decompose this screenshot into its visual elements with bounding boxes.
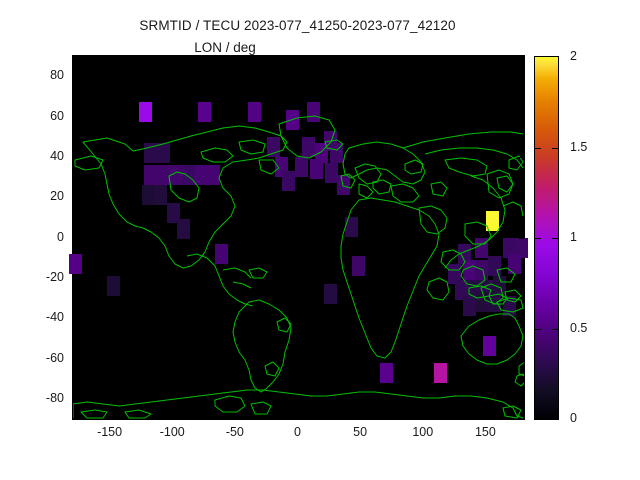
colorbar-tick-mark	[552, 238, 558, 239]
y-axis-tick-mark	[519, 238, 524, 239]
colorbar-tick-mark	[535, 148, 541, 149]
figure: SRMTID / TECU 2023-077_41250-2023-077_42…	[0, 0, 640, 480]
coastline-layer	[73, 56, 524, 419]
colorbar-tick-mark	[552, 148, 558, 149]
colorbar-tick-mark	[552, 329, 558, 330]
x-axis-tick-mark	[424, 414, 425, 419]
x-axis-tick-mark	[299, 414, 300, 419]
y-axis-tick-mark	[73, 117, 78, 118]
x-axis-tick-mark	[424, 56, 425, 61]
y-axis-tick-mark	[519, 117, 524, 118]
y-axis-tick-label: 20	[4, 189, 64, 203]
y-axis-tick-label: 40	[4, 149, 64, 163]
y-axis-tick-label: -80	[4, 391, 64, 405]
y-axis-tick-mark	[73, 318, 78, 319]
x-axis-tick-mark	[486, 56, 487, 61]
x-axis-tick-mark	[361, 414, 362, 419]
x-axis-tick-label: 50	[330, 425, 390, 439]
y-axis-tick-mark	[519, 157, 524, 158]
x-axis-tick-label: -50	[205, 425, 265, 439]
y-axis-tick-mark	[519, 197, 524, 198]
x-axis-tick-label: -100	[142, 425, 202, 439]
colorbar-tick-label: 2	[570, 49, 577, 63]
colorbar-tick-label: 1	[570, 230, 577, 244]
x-axis-tick-mark	[173, 414, 174, 419]
x-axis-tick-label: 100	[393, 425, 453, 439]
colorbar[interactable]	[534, 56, 559, 420]
y-axis-tick-label: 0	[4, 230, 64, 244]
colorbar-tick-mark	[535, 238, 541, 239]
y-axis-tick-mark	[73, 359, 78, 360]
y-axis-tick-mark	[73, 157, 78, 158]
x-axis-tick-mark	[236, 414, 237, 419]
y-axis-tick-mark	[73, 197, 78, 198]
y-axis-tick-mark	[519, 76, 524, 77]
y-axis-tick-mark	[519, 359, 524, 360]
colorbar-tick-label: 0	[570, 411, 577, 425]
y-axis-tick-mark	[519, 399, 524, 400]
x-axis-label: LON / deg	[194, 40, 256, 55]
x-axis-tick-mark	[236, 56, 237, 61]
y-axis-tick-mark	[73, 238, 78, 239]
x-axis-tick-mark	[361, 56, 362, 61]
colorbar-tick-mark	[535, 329, 541, 330]
x-axis-tick-mark	[111, 414, 112, 419]
colorbar-tick-label: 0.5	[570, 321, 587, 335]
x-axis-tick-label: -150	[80, 425, 140, 439]
y-axis-tick-label: -40	[4, 310, 64, 324]
y-axis-tick-label: -60	[4, 351, 64, 365]
x-axis-tick-label: 0	[268, 425, 328, 439]
x-axis-tick-label: 150	[455, 425, 515, 439]
y-axis-tick-mark	[519, 278, 524, 279]
x-axis-tick-mark	[299, 56, 300, 61]
chart-title: SRMTID / TECU 2023-077_41250-2023-077_42…	[0, 18, 595, 33]
y-axis-tick-label: 80	[4, 68, 64, 82]
map-plot-area[interactable]	[72, 55, 525, 420]
y-axis-tick-mark	[73, 278, 78, 279]
y-axis-tick-label: -20	[4, 270, 64, 284]
colorbar-tick-label: 1.5	[570, 140, 587, 154]
y-axis-tick-label: 60	[4, 109, 64, 123]
y-axis-tick-mark	[73, 399, 78, 400]
y-axis-tick-mark	[519, 318, 524, 319]
x-axis-tick-mark	[173, 56, 174, 61]
y-axis-tick-mark	[73, 76, 78, 77]
x-axis-tick-mark	[486, 414, 487, 419]
x-axis-tick-mark	[111, 56, 112, 61]
